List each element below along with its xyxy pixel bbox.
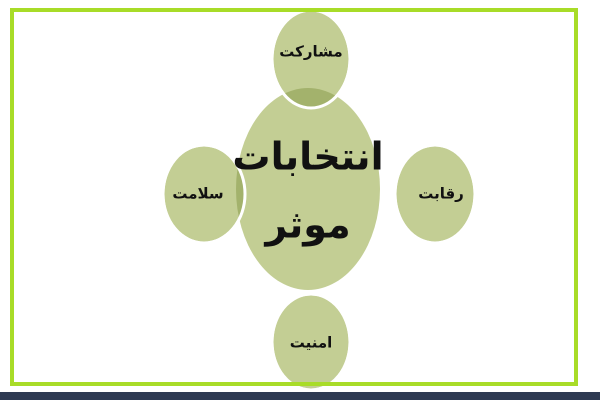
satellite-security-label: امنیت <box>290 334 333 352</box>
center-ellipse[interactable] <box>236 88 380 290</box>
satellite-integrity-label: سلامت <box>172 185 223 203</box>
satellite-competition-label: رقابت <box>418 185 464 203</box>
radial-diagram: مشارکترقابتامنیتسلامتانتخاباتموثر <box>0 0 600 400</box>
satellite-participation-label: مشارکت <box>279 43 342 61</box>
diagram-canvas: مشارکترقابتامنیتسلامتانتخاباتموثر <box>0 0 600 400</box>
bottom-accent-bar <box>0 392 600 400</box>
center-label-line-1: انتخابات <box>232 135 383 179</box>
center-label-line-2: موثر <box>263 203 350 247</box>
